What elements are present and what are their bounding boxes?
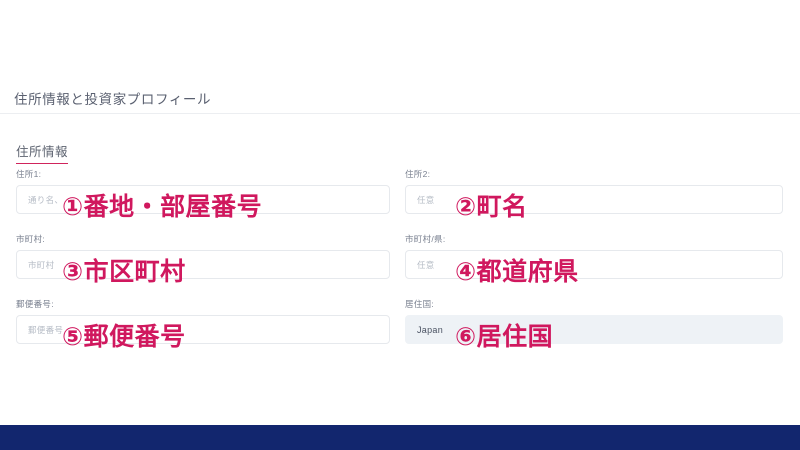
field-postal-code: 郵便番号: 郵便番号 (16, 298, 390, 344)
input-state-province[interactable]: 任意 (405, 250, 783, 279)
field-label-address-1: 住所1: (16, 168, 390, 180)
field-address-2: 住所2: 任意 (405, 168, 783, 214)
field-label-country-of-residence: 居住国: (405, 298, 783, 310)
input-address-2[interactable]: 任意 (405, 185, 783, 214)
input-country-of-residence[interactable]: Japan (405, 315, 783, 344)
field-city: 市町村: 市町村 (16, 233, 390, 279)
page-title: 住所情報と投資家プロフィール (14, 88, 211, 108)
field-country-of-residence: 居住国: Japan (405, 298, 783, 344)
field-label-state-province: 市町村/県: (405, 233, 783, 245)
field-state-province: 市町村/県: 任意 (405, 233, 783, 279)
input-address-1[interactable]: 通り名、 (16, 185, 390, 214)
input-postal-code[interactable]: 郵便番号 (16, 315, 390, 344)
field-address-1: 住所1: 通り名、 (16, 168, 390, 214)
input-city[interactable]: 市町村 (16, 250, 390, 279)
field-label-city: 市町村: (16, 233, 390, 245)
footer-bar (0, 425, 800, 450)
page-content: 住所情報と投資家プロフィール 住所情報 住所1: 通り名、 住所2: 任意 市町… (0, 0, 800, 425)
country-of-residence-value: Japan (417, 325, 443, 335)
field-label-postal-code: 郵便番号: (16, 298, 390, 310)
field-label-address-2: 住所2: (405, 168, 783, 180)
title-divider (0, 113, 800, 114)
section-heading-address: 住所情報 (16, 141, 68, 164)
